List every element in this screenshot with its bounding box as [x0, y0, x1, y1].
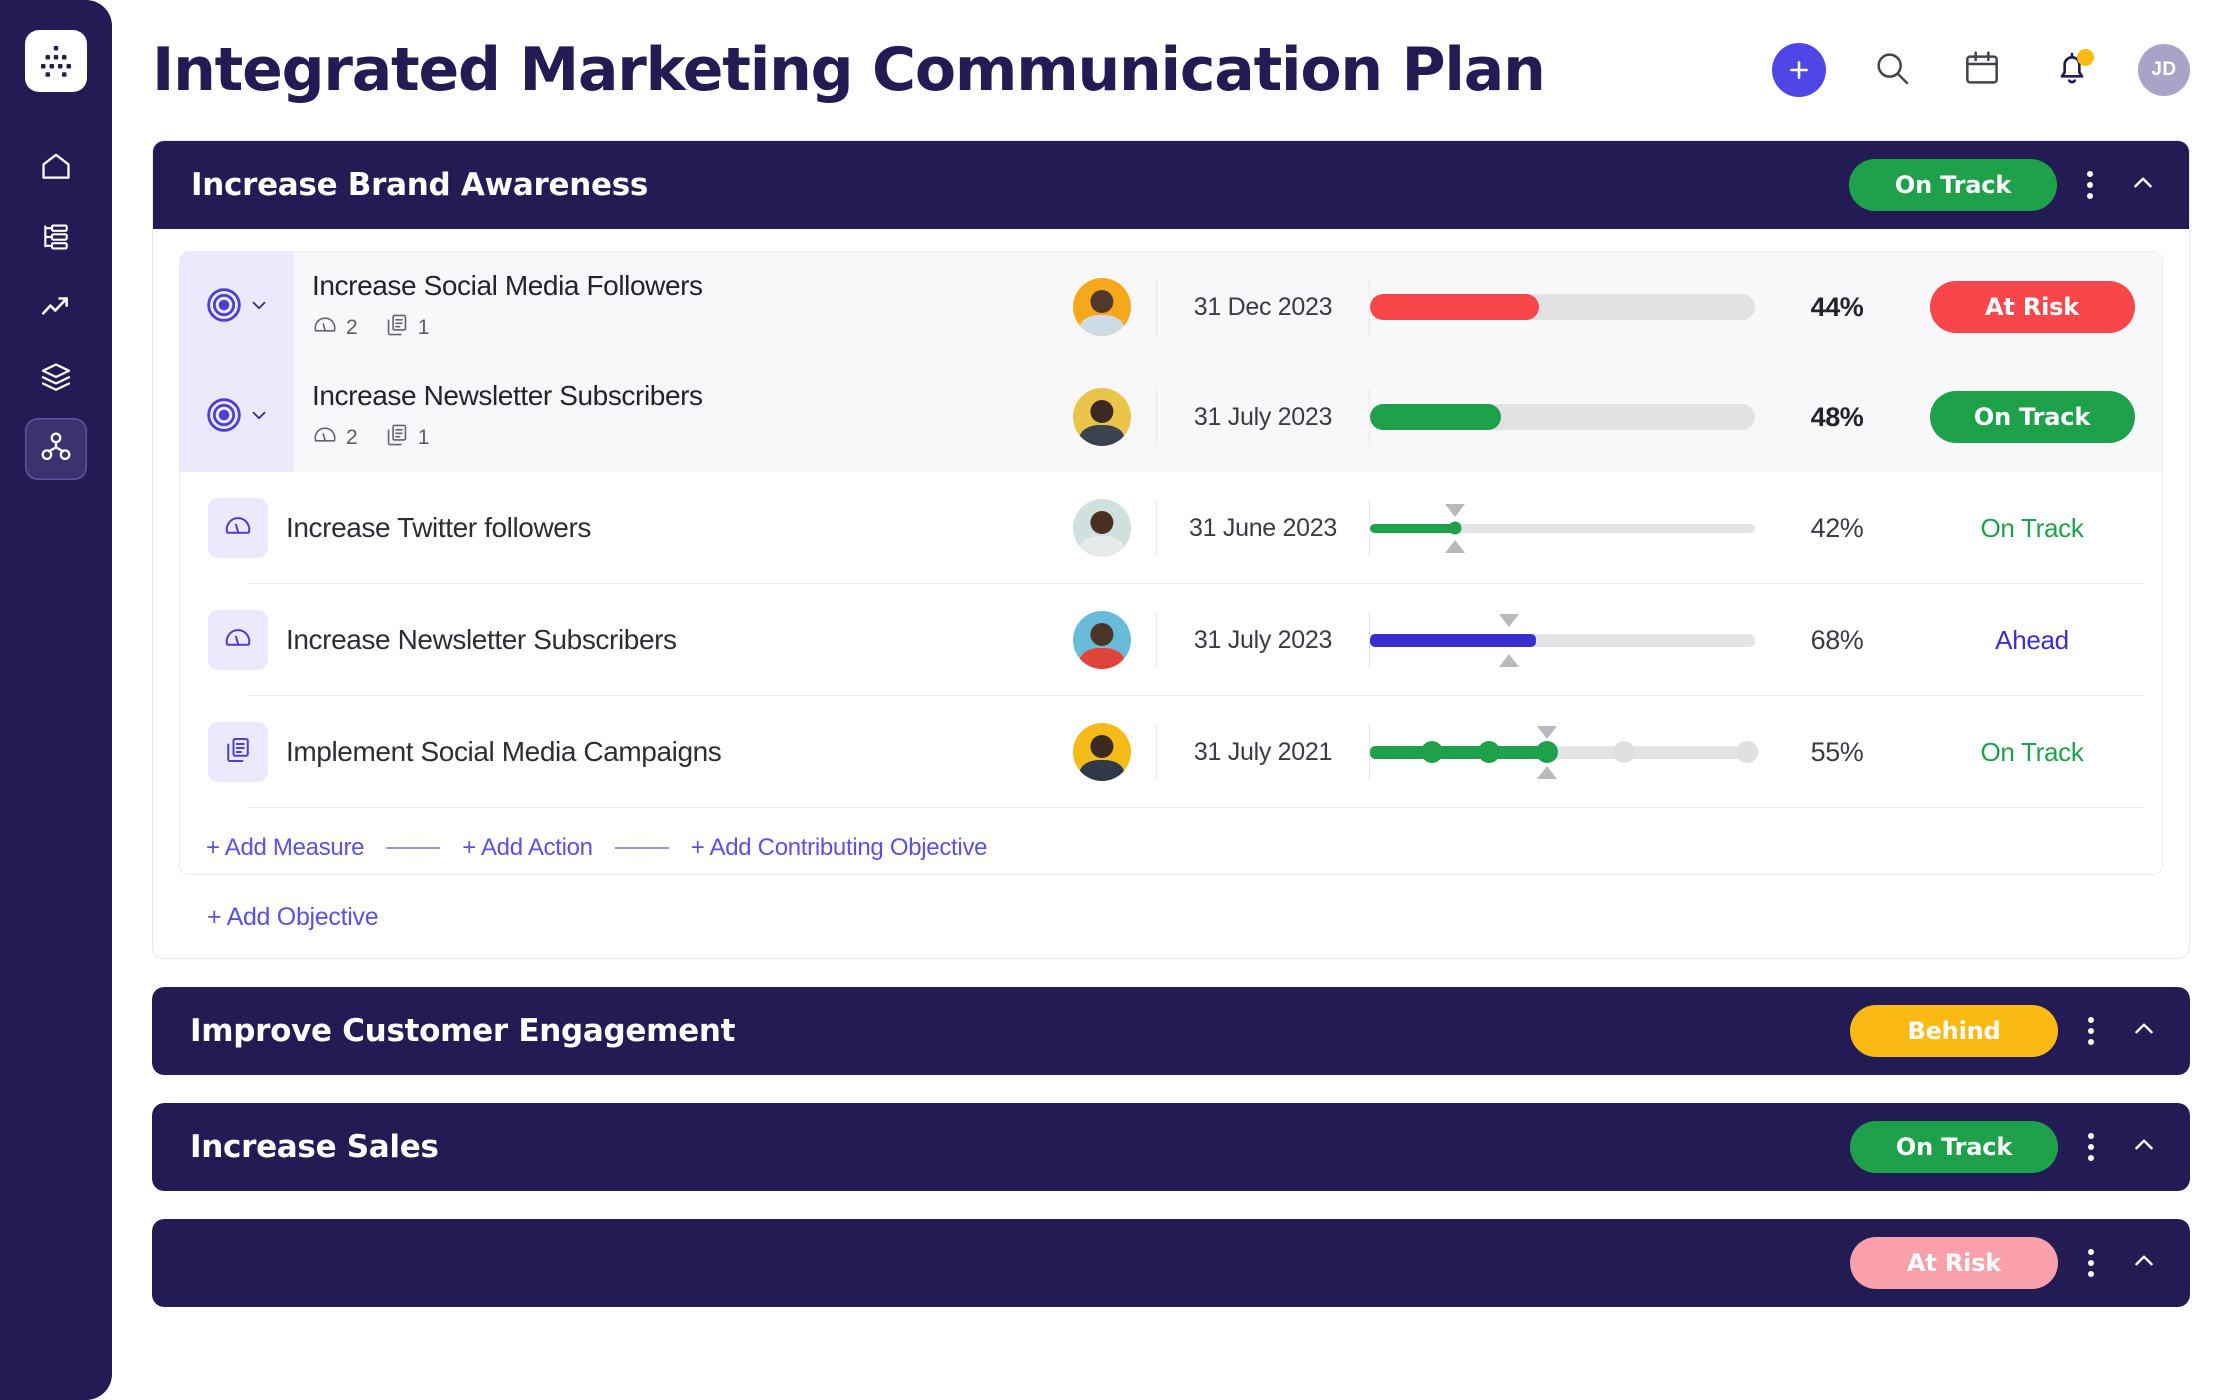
objective-status-badge[interactable]: Behind [1850, 1005, 2058, 1057]
sidebar-item-strategy-map[interactable] [25, 418, 87, 480]
progress-bar [1370, 294, 1755, 320]
measure-meta: 2 1 [312, 312, 1048, 344]
action-icon-tile[interactable] [208, 722, 268, 782]
objective-header[interactable]: At Risk [152, 1219, 2190, 1307]
objective-status-badge[interactable]: On Track [1849, 159, 2057, 211]
chevron-up-icon [2131, 1248, 2157, 1279]
add-contributing-objective-link[interactable]: + Add Contributing Objective [691, 834, 987, 862]
meta-count: 1 [418, 316, 430, 340]
status-cell: On Track [1902, 737, 2162, 768]
progress-bar [1370, 404, 1755, 430]
add-action-link[interactable]: + Add Action [462, 834, 593, 862]
sidebar [0, 0, 112, 1400]
chevron-down-icon[interactable] [248, 294, 270, 321]
due-date: 31 July 2023 [1157, 626, 1369, 655]
objective-status-badge[interactable]: On Track [1850, 1121, 2058, 1173]
owner-avatar-cell[interactable] [1048, 388, 1156, 446]
progress-bar-cell [1370, 294, 1772, 320]
search-icon [1872, 48, 1912, 93]
avatar [1073, 611, 1131, 669]
target-marker-up [1537, 726, 1557, 739]
measure-icon-tile[interactable] [180, 362, 294, 472]
objective-header[interactable]: Increase Sales On Track [152, 1103, 2190, 1191]
status-cell: Ahead [1902, 625, 2162, 656]
sidebar-item-layers[interactable] [25, 348, 87, 410]
add-objective-link[interactable]: + Add Objective [179, 875, 2163, 932]
gauge-icon [312, 312, 338, 344]
table-row[interactable]: Increase Twitter followers 31 June 2023 [180, 472, 2162, 584]
meta-actions-count: 1 [384, 312, 430, 344]
milestone-dot [1478, 741, 1500, 763]
documents-icon [384, 422, 410, 454]
progress-bar-cell [1370, 634, 1772, 647]
progress-bar-cell [1370, 404, 1772, 430]
chevron-up-icon [2130, 170, 2156, 201]
table-row[interactable]: Increase Newsletter Subscribers 2 [180, 362, 2162, 472]
objective-collapse-button[interactable] [2123, 163, 2163, 207]
objective-card: Improve Customer Engagement Behind [152, 987, 2190, 1075]
objective-menu-button[interactable] [2074, 1009, 2108, 1053]
objective-title: Increase Brand Awareness [191, 167, 648, 203]
meta-measures-count: 2 [312, 312, 358, 344]
progress-slider[interactable] [1370, 634, 1755, 647]
chevron-up-icon [2131, 1016, 2157, 1047]
add-measure-link[interactable]: + Add Measure [206, 834, 364, 862]
objective-collapse-button[interactable] [2124, 1009, 2164, 1053]
objective-header[interactable]: Improve Customer Engagement Behind [152, 987, 2190, 1075]
add-button[interactable] [1772, 43, 1826, 97]
notifications-button[interactable] [2048, 46, 2096, 94]
table-row[interactable]: Increase Newsletter Subscribers 31 July … [180, 584, 2162, 696]
objective-header[interactable]: Increase Brand Awareness On Track [153, 141, 2189, 229]
objective-collapse-button[interactable] [2124, 1125, 2164, 1169]
gauge-icon [312, 422, 338, 454]
status-label: On Track [1980, 513, 2083, 544]
add-links-row: + Add Measure + Add Action + Add Contrib… [180, 808, 2162, 874]
progress-percent: 48% [1772, 402, 1902, 433]
measure-title: Increase Newsletter Subscribers [286, 624, 1048, 656]
chevron-down-icon[interactable] [248, 404, 270, 431]
objective-status-badge[interactable]: At Risk [1850, 1237, 2058, 1289]
measure-icon-tile[interactable] [208, 610, 268, 670]
status-cell: At Risk [1902, 281, 2162, 333]
progress-fill [1370, 404, 1501, 430]
status-cell: On Track [1902, 391, 2162, 443]
trend-up-icon [39, 290, 73, 329]
progress-slider[interactable] [1370, 524, 1755, 533]
milestone-track[interactable] [1370, 746, 1755, 759]
status-badge[interactable]: On Track [1930, 391, 2135, 443]
link-separator [386, 847, 440, 849]
objective-collapse-button[interactable] [2124, 1241, 2164, 1285]
measure-meta: 2 1 [312, 422, 1048, 454]
target-icon [204, 285, 244, 330]
progress-percent: 55% [1772, 737, 1902, 768]
meta-count: 2 [346, 426, 358, 450]
target-marker-up [1445, 504, 1465, 517]
status-label: On Track [1980, 737, 2083, 768]
measure-title: Increase Twitter followers [286, 512, 1048, 544]
avatar [1073, 278, 1131, 336]
due-date: 31 June 2023 [1157, 514, 1369, 543]
progress-bar-cell [1370, 524, 1772, 533]
search-button[interactable] [1868, 46, 1916, 94]
calendar-button[interactable] [1958, 46, 2006, 94]
objective-menu-button[interactable] [2074, 1125, 2108, 1169]
progress-fill [1370, 524, 1455, 533]
calendar-icon [1962, 48, 2002, 93]
objective-card: At Risk [152, 1219, 2190, 1307]
due-date: 31 July 2023 [1157, 403, 1369, 432]
measure-icon-tile[interactable] [180, 252, 294, 362]
progress-fill [1370, 294, 1539, 320]
owner-avatar-cell[interactable] [1048, 723, 1156, 781]
list-tree-icon [40, 221, 72, 258]
target-marker-down [1445, 540, 1465, 553]
link-separator [615, 847, 669, 849]
user-avatar[interactable]: JD [2138, 44, 2190, 96]
table-row[interactable]: Increase Social Media Followers 2 [180, 252, 2162, 362]
avatar [1073, 723, 1131, 781]
measure-title: Increase Newsletter Subscribers [312, 380, 1048, 412]
progress-percent: 42% [1772, 513, 1902, 544]
documents-icon [384, 312, 410, 344]
progress-percent: 44% [1772, 292, 1902, 323]
topbar: Integrated Marketing Communication Plan [112, 0, 2230, 140]
target-marker-up [1499, 614, 1519, 627]
milestone-dot [1421, 741, 1443, 763]
gauge-icon [223, 623, 253, 658]
target-marker-down [1499, 654, 1519, 667]
chevron-up-icon [2131, 1132, 2157, 1163]
sidebar-item-performance[interactable] [25, 278, 87, 340]
app-logo[interactable] [25, 30, 87, 92]
action-title: Implement Social Media Campaigns [286, 736, 1048, 768]
owner-avatar-cell[interactable] [1048, 611, 1156, 669]
network-nodes-icon [39, 430, 73, 469]
objective-menu-button[interactable] [2073, 163, 2107, 207]
due-date: 31 Dec 2023 [1157, 293, 1369, 322]
measures-list: Increase Social Media Followers 2 [179, 251, 2163, 875]
gauge-icon [223, 511, 253, 546]
status-badge[interactable]: At Risk [1930, 281, 2135, 333]
due-date: 31 July 2021 [1157, 738, 1369, 767]
meta-actions-count: 1 [384, 422, 430, 454]
milestone-bar-cell [1370, 746, 1772, 759]
milestone-dot [1736, 741, 1758, 763]
page-title: Integrated Marketing Communication Plan [152, 35, 1545, 105]
target-marker-down [1537, 766, 1557, 779]
progress-percent: 68% [1772, 625, 1902, 656]
objective-card: Increase Brand Awareness On Track [152, 140, 2190, 959]
owner-avatar-cell[interactable] [1048, 278, 1156, 336]
notification-dot [2077, 49, 2094, 66]
layers-icon [39, 360, 73, 399]
home-icon [39, 150, 73, 189]
target-icon [204, 395, 244, 440]
milestone-dot [1536, 741, 1558, 763]
meta-measures-count: 2 [312, 422, 358, 454]
progress-knob [1448, 522, 1461, 535]
avatar [1073, 499, 1131, 557]
milestone-dot [1613, 741, 1635, 763]
status-cell: On Track [1902, 513, 2162, 544]
main-content: Integrated Marketing Communication Plan [112, 0, 2230, 1400]
owner-avatar-cell[interactable] [1048, 499, 1156, 557]
progress-fill [1370, 746, 1547, 759]
table-row[interactable]: Implement Social Media Campaigns 31 July… [180, 696, 2162, 808]
objective-title: Increase Sales [190, 1129, 439, 1165]
topbar-actions: JD [1772, 43, 2190, 97]
documents-icon [223, 735, 253, 770]
measure-icon-tile[interactable] [208, 498, 268, 558]
objective-card: Increase Sales On Track [152, 1103, 2190, 1191]
avatar [1073, 388, 1131, 446]
sidebar-item-plans[interactable] [25, 208, 87, 270]
meta-count: 1 [418, 426, 430, 450]
objective-menu-button[interactable] [2074, 1241, 2108, 1285]
measure-title: Increase Social Media Followers [312, 270, 1048, 302]
meta-count: 2 [346, 316, 358, 340]
sidebar-item-home[interactable] [25, 138, 87, 200]
status-label: Ahead [1995, 625, 2069, 656]
progress-fill [1370, 634, 1536, 647]
objective-title: Improve Customer Engagement [190, 1013, 735, 1049]
